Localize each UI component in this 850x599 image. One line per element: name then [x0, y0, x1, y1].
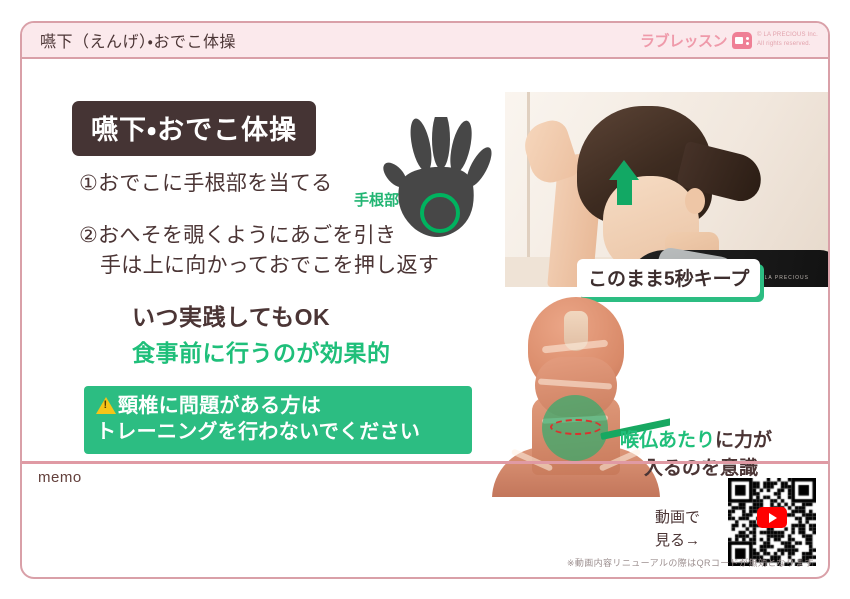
warning-triangle-icon — [96, 397, 116, 414]
highlight-circle-icon — [420, 193, 460, 233]
memo-label: memo — [38, 469, 82, 486]
brand-name: ラブレッスン — [640, 30, 727, 51]
copyright-notice: © LA PRECIOUS Inc. All rights reserved. — [757, 31, 818, 48]
watch-video-label: 動画で 見る→ — [655, 507, 700, 552]
timing-note-line-1: いつ実践してもOK — [132, 298, 330, 332]
warning-text-1: 頸椎に問題がある方は — [118, 395, 321, 417]
qr-footnote: ※動画内容リニューアルの際はQRコードが無効となります — [567, 556, 814, 569]
copyright-line-1: © LA PRECIOUS Inc. — [757, 31, 818, 40]
header-bar: 嚥下（えんげ）・おでこ体操 ラブレッスン © LA PRECIOUS Inc. … — [22, 23, 828, 59]
brand-block: ラブレッスン © LA PRECIOUS Inc. All rights res… — [640, 30, 818, 51]
anatomy-dashed-marker — [550, 419, 602, 435]
photo-ear — [685, 188, 705, 214]
content-area: 嚥下・おでこ体操 ①おでこに手根部を当てる ②おへそを覗くようにあごを引き 手は… — [22, 59, 828, 461]
step-2-line-2: 手は上に向かっておでこを押し返す — [100, 249, 439, 279]
youtube-play-icon — [757, 507, 787, 528]
photo-shirt-logo: LA PRECIOUS — [765, 275, 809, 281]
annotation-green-text: 喉仏あたり — [620, 430, 715, 451]
watch-video-line-2: 見る→ — [655, 530, 700, 553]
warning-box: 頸椎に問題がある方は トレーニングを行わないでください — [84, 386, 472, 454]
step-1-text: ①おでこに手根部を当てる — [79, 167, 332, 197]
warning-line-1: 頸椎に問題がある方は — [96, 394, 462, 420]
qr-code-icon[interactable] — [728, 478, 816, 566]
annotation-line-1: 喉仏あたりに力が — [620, 427, 772, 455]
worksheet-frame: 嚥下（えんげ）・おでこ体操 ラブレッスン © LA PRECIOUS Inc. … — [20, 21, 830, 579]
watch-video-line-1: 動画で — [655, 507, 700, 530]
memo-divider — [22, 461, 828, 464]
annotation-rest-text: に力が — [715, 430, 772, 451]
timing-note-line-2: 食事前に行うのが効果的 — [132, 334, 391, 368]
anatomy-annotation: 喉仏あたりに力が 入るのを意識 — [620, 427, 772, 482]
exercise-title-chip: 嚥下・おでこ体操 — [72, 101, 316, 156]
hand-heel-label: 手根部 — [354, 189, 399, 210]
character-mark-icon — [732, 32, 752, 49]
keep-duration-label: このまま5秒キープ — [577, 259, 760, 297]
up-arrow-icon — [609, 160, 639, 180]
step-2-line-1: ②おへそを覗くようにあごを引き — [79, 219, 396, 249]
copyright-line-2: All rights reserved. — [757, 40, 818, 49]
photo-wall-edge — [527, 92, 530, 257]
page-title: 嚥下（えんげ）・おでこ体操 — [40, 28, 236, 52]
warning-line-2: トレーニングを行わないでください — [96, 420, 462, 446]
up-arrow-icon-tail — [617, 179, 632, 205]
forehead-press-demo-photo: LA PRECIOUS — [505, 92, 830, 287]
